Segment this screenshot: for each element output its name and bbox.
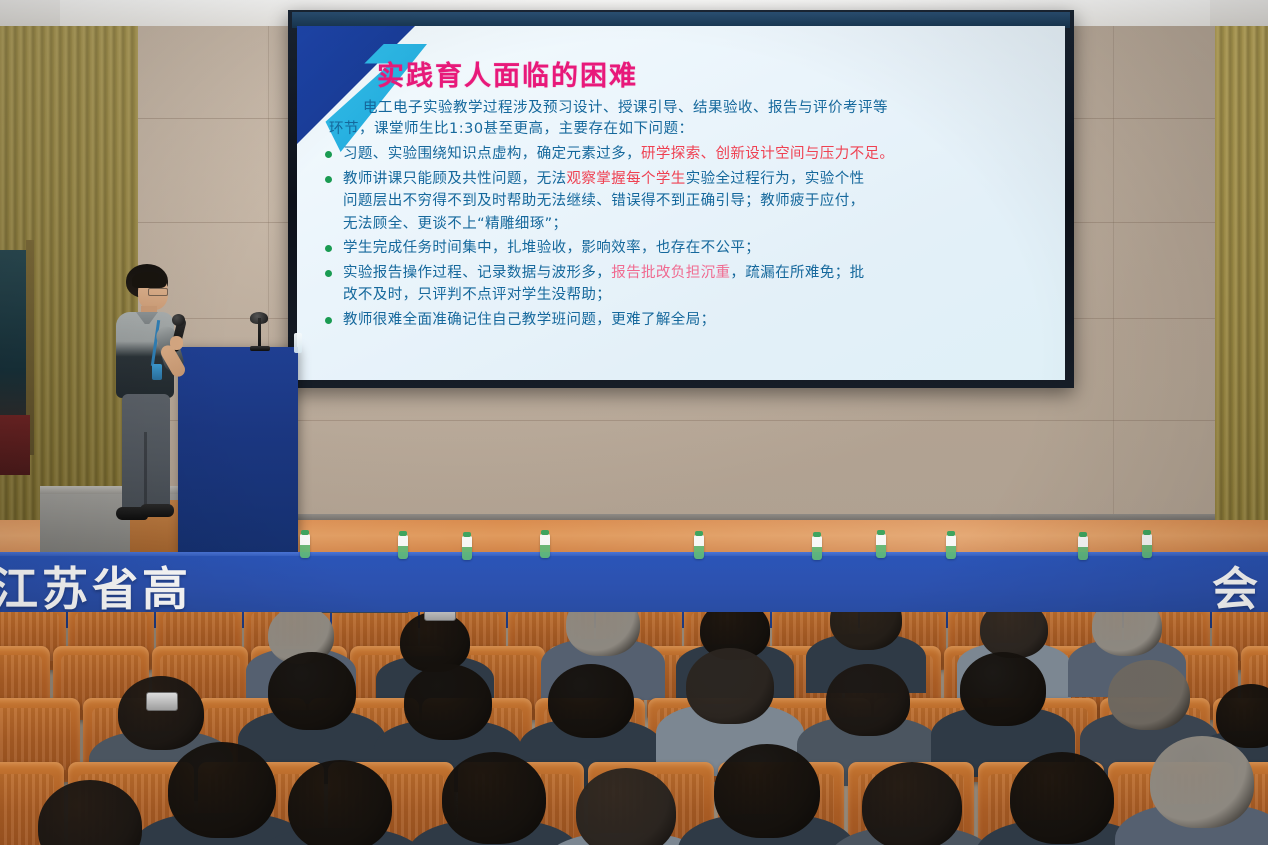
wall-seam [138,420,1215,421]
audience-phone-icon [146,692,178,711]
audience-seating [0,612,1268,845]
slide-lead-paragraph: 电工电子实验教学过程涉及预习设计、授课引导、结果验收、报告与评价考评等 环节，课… [329,98,1047,140]
audience-member-head [686,648,774,724]
lecture-hall-photo: 实践育人面临的困难 电工电子实验教学过程涉及预习设计、授课引导、结果验收、报告与… [0,0,1268,845]
speaker-leg-split [144,432,147,510]
water-bottle [1078,536,1088,560]
speaker-badge [152,364,162,380]
audience-member-head [1150,736,1254,828]
slide-bullet-list: 习题、实验围绕知识点虚构，确定元素过多，研学探索、创新设计空间与压力不足。教师讲… [321,143,1047,331]
bullet-text-segment: 习题、实验围绕知识点虚构，确定元素过多， [343,146,641,162]
wall-seam-vertical [1113,26,1114,526]
podium: 江苏省高等教育学校电子信息类专业 教学研究会第二届学术年会2023 会议地点 ·… [178,347,298,555]
bullet-text-segment: ，疏漏在所难免；批 [730,265,864,281]
water-bottle [540,534,550,558]
slide-bullet-item: 实验报告操作过程、记录数据与波形多，报告批改负担沉重，疏漏在所难免；批改不及时，… [321,262,1047,307]
stage-banner-text-right: 会 [1212,560,1262,618]
water-bottle-cap [541,530,549,535]
doorway-red-panel [0,415,30,475]
bullet-continuation-line: 问题层出不穷得不到及时帮助无法继续、错误得不到正确引导；教师疲于应付， [343,190,1047,213]
speaker-fringe [132,272,166,288]
audience-member-head [404,664,492,740]
slide-bullet-item: 习题、实验围绕知识点虚构，确定元素过多，研学探索、创新设计空间与压力不足。 [321,143,1047,166]
audience-phone-icon [424,612,456,621]
audience-member-head [980,612,1048,658]
water-bottle [694,535,704,559]
bullet-dot-icon [325,270,332,277]
bullet-text-segment: 教师很难全面准确记住自己教学班问题，更难了解全局； [343,312,716,328]
water-bottle [398,535,408,559]
bullet-dot-icon [325,245,332,252]
wood-slat-wall-right-shading [1215,26,1268,526]
slide-lead-line-1: 电工电子实验教学过程涉及预习设计、授课引导、结果验收、报告与评价考评等 [363,100,888,116]
audience-member-head [400,612,470,672]
speaker-person [108,264,188,550]
desk-microphone-base [250,346,270,351]
podium-water-bottle [294,333,302,353]
presentation-slide: 实践育人面临的困难 电工电子实验教学过程涉及预习设计、授课引导、结果验收、报告与… [297,26,1065,380]
water-bottle-cap [399,531,407,536]
bullet-text-segment: 报告批改负担沉重 [611,265,730,281]
bullet-text-segment: 研学探索、创新设计空间与压力不足。 [641,146,894,162]
audience-member-head [960,652,1046,726]
speaker-glasses [148,288,168,296]
handheld-microphone-head-icon [172,314,185,326]
water-bottle [946,535,956,559]
slide-bullet-item: 教师讲课只能顾及共性问题，无法观察掌握每个学生实验全过程行为，实验个性问题层出不… [321,168,1047,236]
bullet-dot-icon [325,317,332,324]
water-bottle [876,534,886,558]
water-bottle-cap [1143,530,1151,535]
bullet-text-segment: 学生完成任务时间集中，扎堆验收，影响效率，也存在不公平； [343,240,760,256]
speaker-hand [170,336,183,350]
audience-member-head [826,664,910,736]
bullet-text-segment: 实验报告操作过程、记录数据与波形多， [343,265,611,281]
slide-title: 实践育人面临的困难 [377,54,638,93]
audience-member-head [118,676,204,750]
audience-member-head [442,752,546,844]
stage-banner-text-left: 江苏省高 [0,560,192,618]
water-bottle-cap [877,530,885,535]
bullet-continuation-line: 无法顾全、更谈不上“精雕细琢”； [343,213,1047,236]
bullet-text-segment: 观察掌握每个学生 [567,171,686,187]
audience-member-head [268,652,356,730]
water-bottle-cap [947,531,955,536]
water-bottle-cap [463,532,471,537]
slide-bullet-item: 学生完成任务时间集中，扎堆验收，影响效率，也存在不公平； [321,237,1047,260]
bullet-dot-icon [325,151,332,158]
audience-member-head [288,760,392,845]
audience-member-shoulders [310,612,407,613]
audience-member-head [1108,660,1190,730]
water-bottle [1142,534,1152,558]
water-bottle-cap [1079,532,1087,537]
water-bottle [812,536,822,560]
slide-body: 电工电子实验教学过程涉及预习设计、授课引导、结果验收、报告与评价考评等 环节，课… [321,98,1047,333]
water-bottle [300,534,310,558]
audience-member-head [548,664,634,738]
audience-member-head [714,744,820,838]
water-bottle [462,536,472,560]
audience-member-head [862,762,962,845]
bullet-text-segment: 教师讲课只能顾及共性问题，无法 [343,171,567,187]
audience-member-head [168,742,276,838]
water-bottle-cap [695,531,703,536]
audience-member-head [1010,752,1114,844]
speaker-shoe-right [140,504,174,517]
slide-bullet-item: 教师很难全面准确记住自己教学班问题，更难了解全局； [321,309,1047,332]
bullet-continuation-line: 改不及时，只评判不点评对学生没帮助； [343,284,1047,307]
water-bottle-cap [813,532,821,537]
slide-lead-line-2: 环节，课堂师生比1:30甚至更高，主要存在如下问题： [329,119,1047,140]
audience-member-head [1092,612,1162,656]
bullet-text-segment: 实验全过程行为，实验个性 [686,171,865,187]
water-bottle-cap [301,530,309,535]
bullet-dot-icon [325,176,332,183]
